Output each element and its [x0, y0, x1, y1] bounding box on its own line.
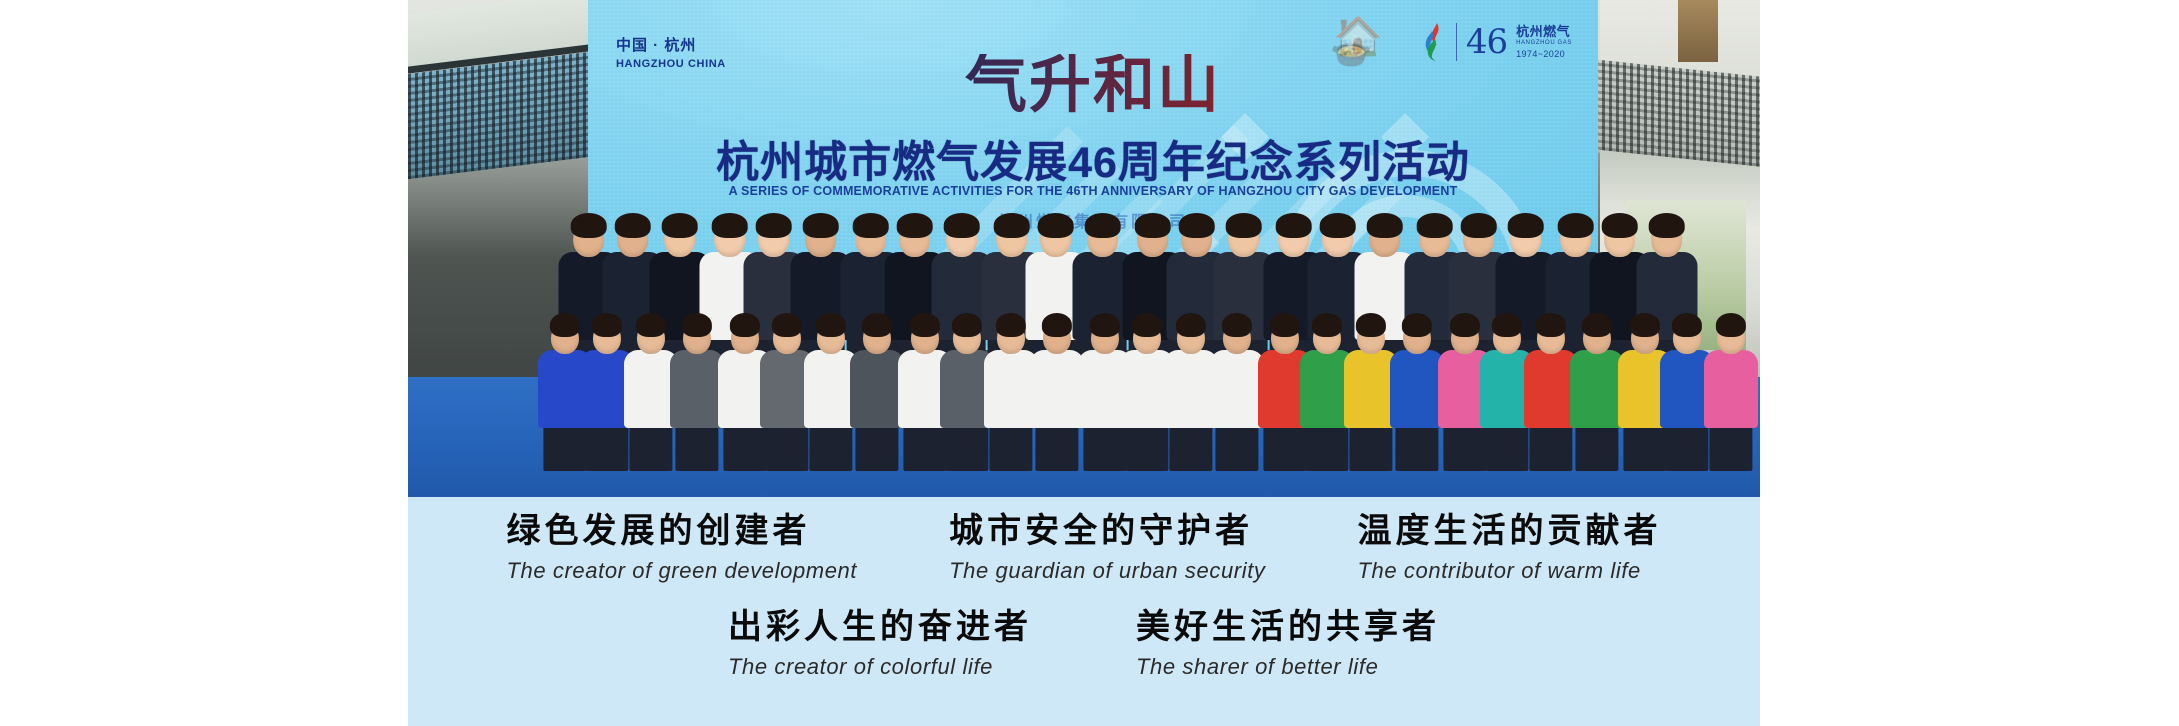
attendee-body — [1210, 350, 1264, 428]
slogan-cn: 温度生活的贡献者 — [1358, 511, 1662, 552]
slogan-item: 温度生活的贡献者 The contributor of warm life — [1358, 511, 1662, 584]
attendee-hair — [1601, 213, 1638, 237]
slogan-row-2: 出彩人生的奋进者 The creator of colorful life 美好… — [408, 607, 1760, 680]
attendee-hair — [1178, 213, 1215, 237]
attendee-hair — [772, 313, 802, 337]
attendee-hair — [682, 313, 712, 337]
attendee-hair — [1222, 313, 1252, 337]
calligraphy-title: 气升和山 — [588, 54, 1598, 116]
attendee-hair — [1460, 213, 1497, 237]
attendee-hair — [1716, 313, 1746, 337]
attendee-hair — [1582, 313, 1612, 337]
attendee-hair — [896, 213, 933, 237]
attendee-hair — [1084, 213, 1121, 237]
attendee-hair — [862, 313, 892, 337]
attendee-hair — [592, 313, 622, 337]
slogan-cn: 绿色发展的创建者 — [506, 511, 857, 552]
locale-cn: 中国 · 杭州 — [616, 34, 726, 55]
attendee-hair — [730, 313, 760, 337]
attendee-legs — [1305, 421, 1348, 471]
attendee-legs — [1035, 421, 1078, 471]
attendee-hair — [910, 313, 940, 337]
attendee-hair — [1132, 313, 1162, 337]
attendee-hair — [1037, 213, 1074, 237]
attendee-body — [1570, 350, 1624, 428]
attendee-legs — [1395, 421, 1438, 471]
attendee-hair — [1042, 313, 1072, 337]
attendee-body — [670, 350, 724, 428]
attendee-legs — [585, 421, 628, 471]
attendee-hair — [636, 313, 666, 337]
attendee-hair — [1402, 313, 1432, 337]
attendee-hair — [816, 313, 846, 337]
slogan-en: The creator of colorful life — [728, 654, 1032, 680]
attendee-hair — [1356, 313, 1386, 337]
attendee-hair — [1366, 213, 1403, 237]
slogan-item: 美好生活的共享者 The sharer of better life — [1136, 607, 1440, 680]
attendee-hair — [1176, 313, 1206, 337]
slogan-en: The guardian of urban security — [949, 558, 1265, 584]
attendee-hair — [1090, 313, 1120, 337]
logo-company-cn: 杭州燃气 — [1516, 25, 1572, 40]
attendee-hair — [1319, 213, 1356, 237]
slogan-row-1: 绿色发展的创建者 The creator of green developmen… — [408, 511, 1760, 584]
attendee-legs — [1709, 421, 1752, 471]
crowd-of-attendees — [408, 167, 1760, 497]
attendee-hair — [1312, 313, 1342, 337]
poster-root: 🏠 🍲 中国 · 杭州 HANGZHOU CHINA 46 — [0, 0, 2179, 726]
attendee-hair — [1630, 313, 1660, 337]
attendee-legs — [765, 421, 808, 471]
attendee-body — [1030, 350, 1084, 428]
slogan-cn: 城市安全的守护者 — [949, 511, 1265, 552]
slogan-item: 出彩人生的奋进者 The creator of colorful life — [728, 607, 1032, 680]
attendee-hair — [614, 213, 651, 237]
attendee-hair — [1270, 313, 1300, 337]
attendee — [850, 311, 904, 471]
venue-door — [1678, 0, 1718, 62]
attendee — [1704, 311, 1758, 471]
slogan-cn: 出彩人生的奋进者 — [728, 607, 1032, 648]
attendee-body — [1390, 350, 1444, 428]
attendee-legs — [989, 421, 1032, 471]
attendee-hair — [661, 213, 698, 237]
attendee-legs — [1215, 421, 1258, 471]
attendee-legs — [1575, 421, 1618, 471]
slogan-band: 绿色发展的创建者 The creator of green developmen… — [408, 497, 1760, 726]
attendee-hair — [802, 213, 839, 237]
attendee-hair — [550, 313, 580, 337]
attendee-legs — [1125, 421, 1168, 471]
attendee-hair — [943, 213, 980, 237]
attendee-hair — [1672, 313, 1702, 337]
attendee-legs — [1529, 421, 1572, 471]
attendee-hair — [755, 213, 792, 237]
attendee — [1390, 311, 1444, 471]
attendee-hair — [1225, 213, 1262, 237]
attendee-legs — [809, 421, 852, 471]
slogan-en: The sharer of better life — [1136, 654, 1440, 680]
attendee-hair — [1648, 213, 1685, 237]
attendee-legs — [855, 421, 898, 471]
attendee-hair — [996, 313, 1026, 337]
attendee-body — [850, 350, 904, 428]
logo-company-en: HANGZHOU GAS — [1516, 40, 1572, 47]
attendee — [1570, 311, 1624, 471]
attendee-body — [1704, 350, 1758, 428]
attendee-legs — [1169, 421, 1212, 471]
attendee-legs — [675, 421, 718, 471]
slogan-en: The contributor of warm life — [1358, 558, 1662, 584]
slogan-cn: 美好生活的共享者 — [1136, 607, 1440, 648]
attendee-legs — [1349, 421, 1392, 471]
slogan-item: 城市安全的守护者 The guardian of urban security — [949, 511, 1265, 584]
attendee — [670, 311, 724, 471]
attendee-hair — [1492, 313, 1522, 337]
slogan-item: 绿色发展的创建者 The creator of green developmen… — [506, 511, 857, 584]
attendee — [1210, 311, 1264, 471]
attendee-legs — [945, 421, 988, 471]
attendee-hair — [952, 313, 982, 337]
attendee — [1030, 311, 1084, 471]
attendee-hair — [1507, 213, 1544, 237]
attendee-hair — [1450, 313, 1480, 337]
slogan-en: The creator of green development — [506, 558, 857, 584]
attendee-legs — [629, 421, 672, 471]
event-group-photo: 🏠 🍲 中国 · 杭州 HANGZHOU CHINA 46 — [408, 0, 1760, 497]
attendee-legs — [1665, 421, 1708, 471]
attendee-hair — [1536, 313, 1566, 337]
venue-right-rail — [1595, 59, 1760, 166]
attendee-legs — [1485, 421, 1528, 471]
